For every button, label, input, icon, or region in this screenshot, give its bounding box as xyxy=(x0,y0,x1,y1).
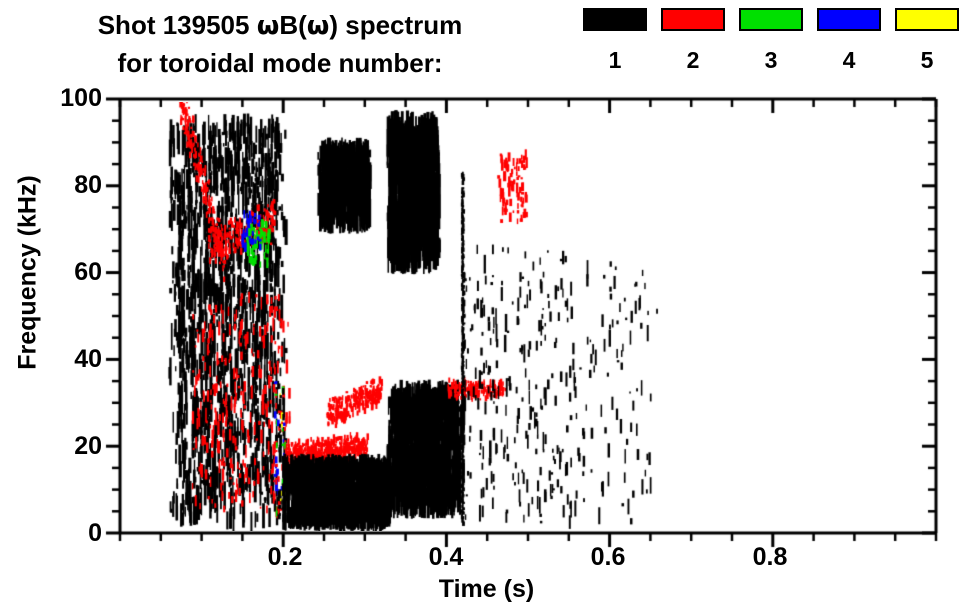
y-tick-label-20: 20 xyxy=(36,434,102,459)
y-tick-label-80: 80 xyxy=(36,173,102,198)
y-tick-label-60: 60 xyxy=(36,260,102,285)
x-tick-label-0p6: 0.6 xyxy=(563,545,653,570)
y-tick-label-0: 0 xyxy=(36,521,102,546)
plot-area: Frequency (kHz) Time (s) 100 80 60 40 20… xyxy=(0,0,963,615)
x-tick-label-0p4: 0.4 xyxy=(401,545,491,570)
y-tick-label-100: 100 xyxy=(36,86,102,111)
x-tick-label-0p2: 0.2 xyxy=(240,545,330,570)
spectrogram-canvas xyxy=(123,102,933,531)
y-tick-label-40: 40 xyxy=(36,347,102,372)
spectrogram-figure: Shot 139505 ωB(ω) spectrum for toroidal … xyxy=(0,0,963,615)
x-tick-label-0p8: 0.8 xyxy=(725,545,815,570)
x-axis-label: Time (s) xyxy=(0,575,963,604)
x-axis-label-text: Time (s) xyxy=(439,575,534,604)
